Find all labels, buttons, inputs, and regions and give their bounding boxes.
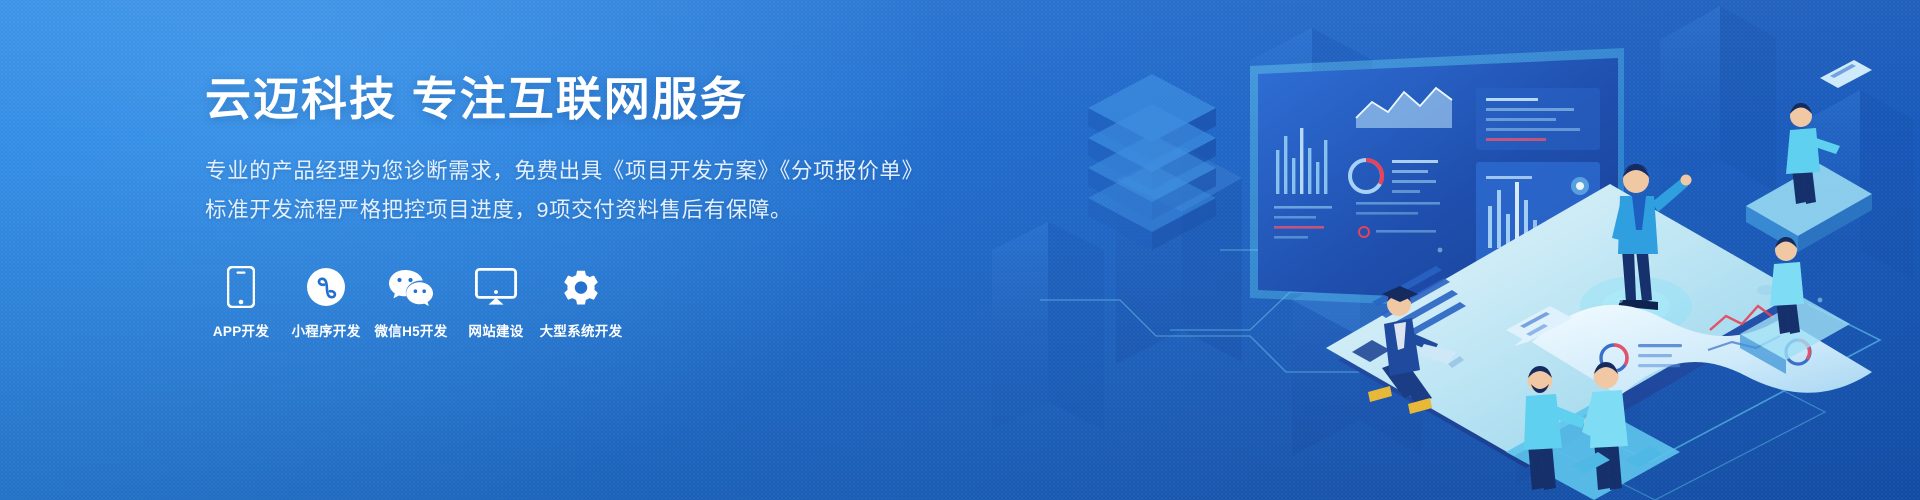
banner-headline: 云迈科技 专注互联网服务 <box>205 72 905 126</box>
banner-subtitle: 专业的产品经理为您诊断需求，免费出具《项目开发方案》《分项报价单》 标准开发流程… <box>205 152 905 230</box>
banner-content: 云迈科技 专注互联网服务 专业的产品经理为您诊断需求，免费出具《项目开发方案》《… <box>205 72 905 340</box>
server-stack <box>1088 74 1216 250</box>
subtitle-line-1: 专业的产品经理为您诊断需求，免费出具《项目开发方案》《分项报价单》 <box>205 152 905 191</box>
promo-banner: 云迈科技 专注互联网服务 专业的产品经理为您诊断需求，免费出具《项目开发方案》《… <box>0 0 1920 500</box>
mobile-phone-icon <box>219 265 263 309</box>
service-label-website: 网站建设 <box>468 320 523 340</box>
service-icon-row: APP开发 小程序开发 <box>205 265 905 340</box>
service-item-wechat[interactable]: 微信H5开发 <box>375 265 447 340</box>
monitor-icon <box>474 265 518 309</box>
isometric-tech-illustration <box>920 0 1920 500</box>
service-item-app[interactable]: APP开发 <box>205 265 277 340</box>
service-item-website[interactable]: 网站建设 <box>460 265 532 340</box>
service-label-system: 大型系统开发 <box>540 320 623 340</box>
service-item-system[interactable]: 大型系统开发 <box>545 265 617 340</box>
gear-icon <box>559 265 603 309</box>
mini-program-icon <box>304 265 348 309</box>
service-label-app: APP开发 <box>213 320 269 340</box>
service-label-miniprogram: 小程序开发 <box>292 320 361 340</box>
wechat-icon <box>389 265 433 309</box>
subtitle-line-2: 标准开发流程严格把控项目进度，9项交付资料售后有保障。 <box>205 191 905 230</box>
service-item-miniprogram[interactable]: 小程序开发 <box>290 265 362 340</box>
service-label-wechat: 微信H5开发 <box>374 320 447 340</box>
